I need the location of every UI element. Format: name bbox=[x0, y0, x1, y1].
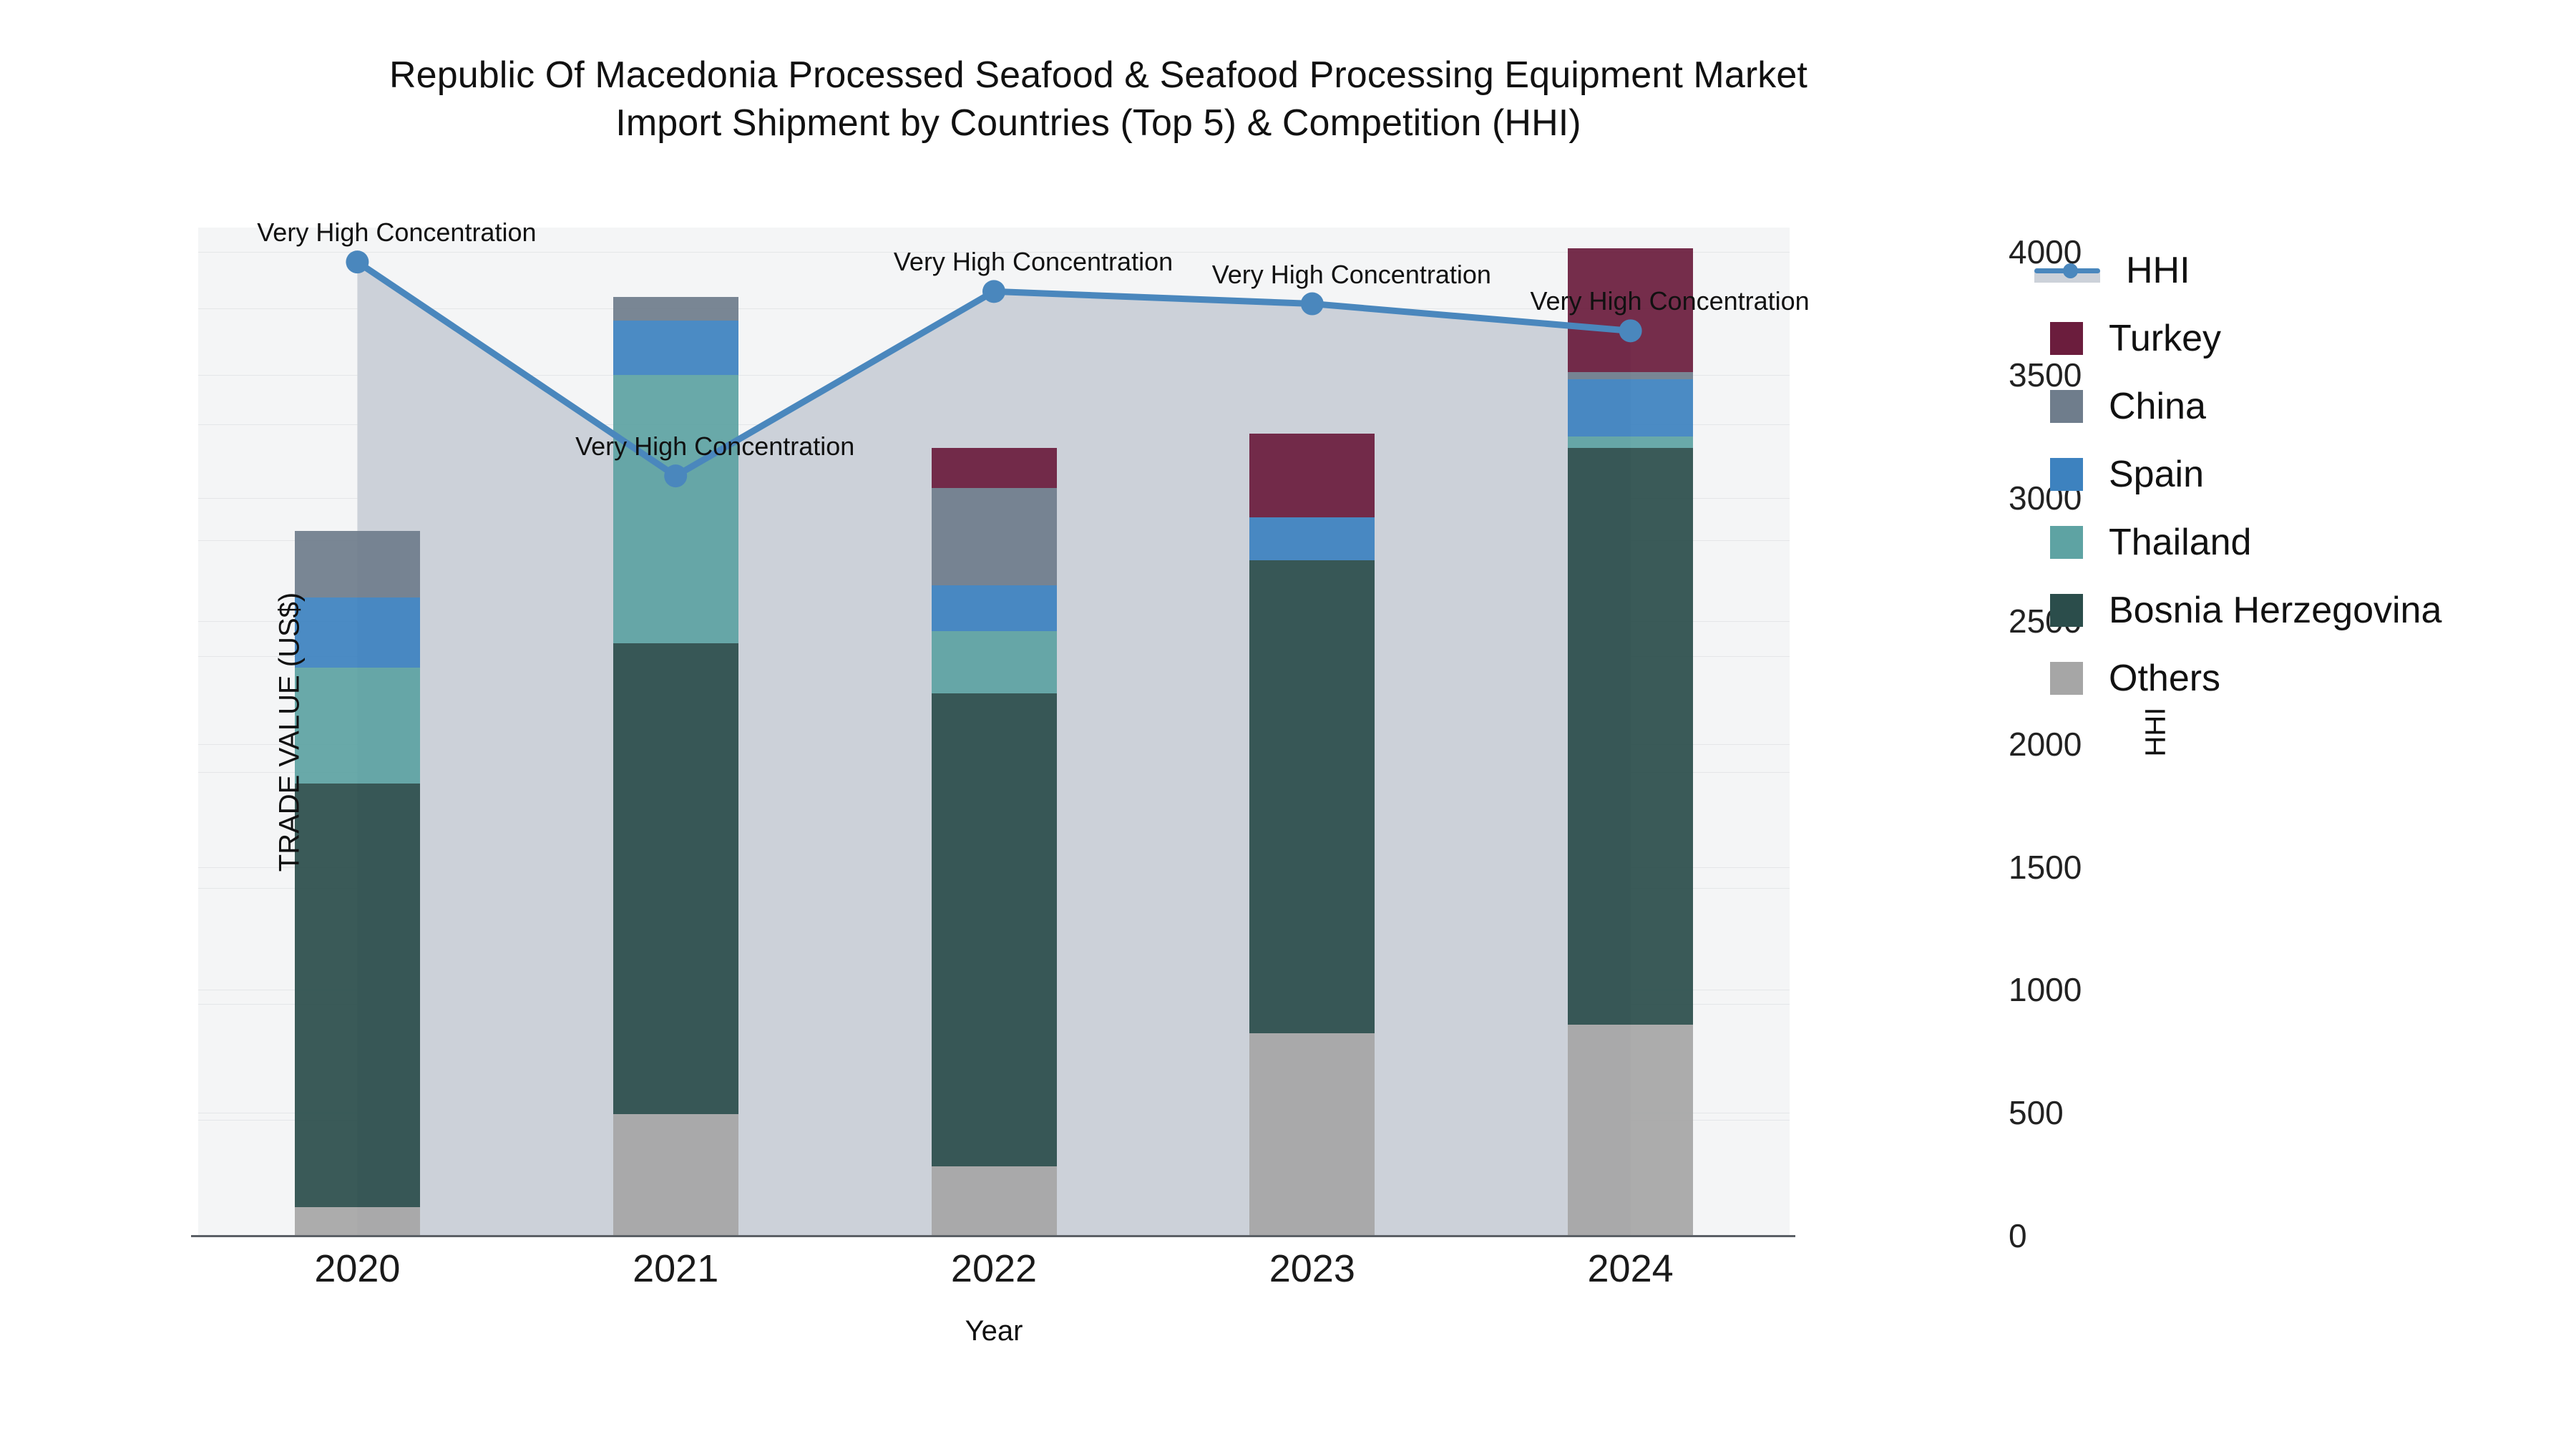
chart-page: Republic Of Macedonia Processed Seafood … bbox=[0, 0, 2576, 1449]
plot-area: Very High ConcentrationVery High Concent… bbox=[198, 228, 1790, 1236]
x-tick-2023: 2023 bbox=[1269, 1246, 1355, 1291]
chart-legend: HHITurkeyChinaSpainThailandBosnia Herzeg… bbox=[2034, 236, 2564, 712]
bar-segment-china[interactable] bbox=[613, 297, 738, 320]
legend-item-bosnia-herzegovina[interactable]: Bosnia Herzegovina bbox=[2034, 576, 2564, 644]
bar-segment-bosnia-herzegovina[interactable] bbox=[1249, 560, 1375, 1033]
bar-segment-bosnia-herzegovina[interactable] bbox=[932, 693, 1057, 1166]
chart-title-block: Republic Of Macedonia Processed Seafood … bbox=[0, 52, 2197, 147]
legend-label: Spain bbox=[2109, 453, 2204, 496]
bar-segment-spain[interactable] bbox=[295, 597, 420, 668]
y-tick-right: 1000 bbox=[2009, 970, 2223, 1009]
legend-item-turkey[interactable]: Turkey bbox=[2034, 304, 2564, 372]
bar-segment-others[interactable] bbox=[1249, 1033, 1375, 1236]
x-axis-line bbox=[191, 1235, 1795, 1237]
bar-segment-china[interactable] bbox=[932, 488, 1057, 585]
bar-stack-2024[interactable] bbox=[1568, 228, 1693, 1236]
bar-stack-2023[interactable] bbox=[1249, 228, 1375, 1236]
x-tick-2022: 2022 bbox=[951, 1246, 1037, 1291]
bar-segment-others[interactable] bbox=[1568, 1025, 1693, 1236]
legend-item-thailand[interactable]: Thailand bbox=[2034, 508, 2564, 576]
bar-segment-china[interactable] bbox=[295, 531, 420, 597]
x-tick-2024: 2024 bbox=[1588, 1246, 1674, 1291]
legend-item-china[interactable]: China bbox=[2034, 372, 2564, 440]
legend-label: Bosnia Herzegovina bbox=[2109, 589, 2441, 632]
bar-segment-thailand[interactable] bbox=[932, 631, 1057, 693]
legend-dot-icon bbox=[2063, 263, 2078, 278]
bar-segment-bosnia-herzegovina[interactable] bbox=[295, 784, 420, 1206]
bar-segment-china[interactable] bbox=[1568, 372, 1693, 379]
plot-inner: Very High ConcentrationVery High Concent… bbox=[198, 228, 1790, 1236]
annotation-2022: Very High Concentration bbox=[894, 247, 1173, 277]
y-tick-right: 500 bbox=[2009, 1093, 2223, 1132]
bar-segment-others[interactable] bbox=[932, 1166, 1057, 1236]
bar-segment-turkey[interactable] bbox=[932, 448, 1057, 489]
y-tick-right: 1500 bbox=[2009, 848, 2223, 887]
legend-label: Others bbox=[2109, 657, 2220, 700]
bar-segment-bosnia-herzegovina[interactable] bbox=[613, 643, 738, 1114]
legend-color-swatch bbox=[2050, 594, 2083, 627]
legend-color-swatch bbox=[2050, 662, 2083, 695]
chart-subtitle: Import Shipment by Countries (Top 5) & C… bbox=[0, 99, 2197, 147]
x-axis-label: Year bbox=[198, 1315, 1790, 1347]
bar-segment-thailand[interactable] bbox=[295, 668, 420, 784]
bar-segment-thailand[interactable] bbox=[613, 375, 738, 644]
chart-title: Republic Of Macedonia Processed Seafood … bbox=[0, 52, 2197, 99]
legend-color-swatch bbox=[2050, 526, 2083, 559]
annotation-2024: Very High Concentration bbox=[1530, 286, 1809, 316]
bar-segment-thailand[interactable] bbox=[1568, 436, 1693, 448]
y-axis-left-label: TRADE VALUE (US$) bbox=[274, 482, 306, 982]
legend-label: Thailand bbox=[2109, 521, 2251, 564]
legend-label: China bbox=[2109, 385, 2206, 428]
legend-label: Turkey bbox=[2109, 317, 2221, 360]
annotation-2020: Very High Concentration bbox=[257, 218, 536, 248]
legend-color-swatch bbox=[2050, 458, 2083, 491]
bar-segment-spain[interactable] bbox=[1249, 517, 1375, 560]
annotation-2023: Very High Concentration bbox=[1212, 260, 1491, 290]
legend-color-swatch bbox=[2050, 322, 2083, 355]
bar-stack-2022[interactable] bbox=[932, 228, 1057, 1236]
x-tick-2021: 2021 bbox=[633, 1246, 718, 1291]
bar-segment-spain[interactable] bbox=[613, 321, 738, 375]
legend-label: HHI bbox=[2126, 249, 2190, 292]
bar-segment-spain[interactable] bbox=[932, 585, 1057, 630]
x-tick-2020: 2020 bbox=[314, 1246, 400, 1291]
bar-segment-spain[interactable] bbox=[1568, 379, 1693, 436]
legend-item-hhi[interactable]: HHI bbox=[2034, 236, 2564, 304]
y-tick-right: 0 bbox=[2009, 1216, 2223, 1255]
bar-segment-turkey[interactable] bbox=[1249, 434, 1375, 517]
bar-segment-others[interactable] bbox=[295, 1207, 420, 1236]
bar-segment-bosnia-herzegovina[interactable] bbox=[1568, 448, 1693, 1025]
bar-segment-others[interactable] bbox=[613, 1114, 738, 1236]
legend-color-swatch bbox=[2050, 390, 2083, 423]
annotation-2021: Very High Concentration bbox=[575, 431, 854, 462]
legend-item-others[interactable]: Others bbox=[2034, 644, 2564, 712]
bar-stack-2020[interactable] bbox=[295, 228, 420, 1236]
legend-line-marker-icon bbox=[2034, 254, 2100, 287]
legend-item-spain[interactable]: Spain bbox=[2034, 440, 2564, 508]
y-tick-right: 2000 bbox=[2009, 725, 2223, 763]
bar-stack-2021[interactable] bbox=[613, 228, 738, 1236]
